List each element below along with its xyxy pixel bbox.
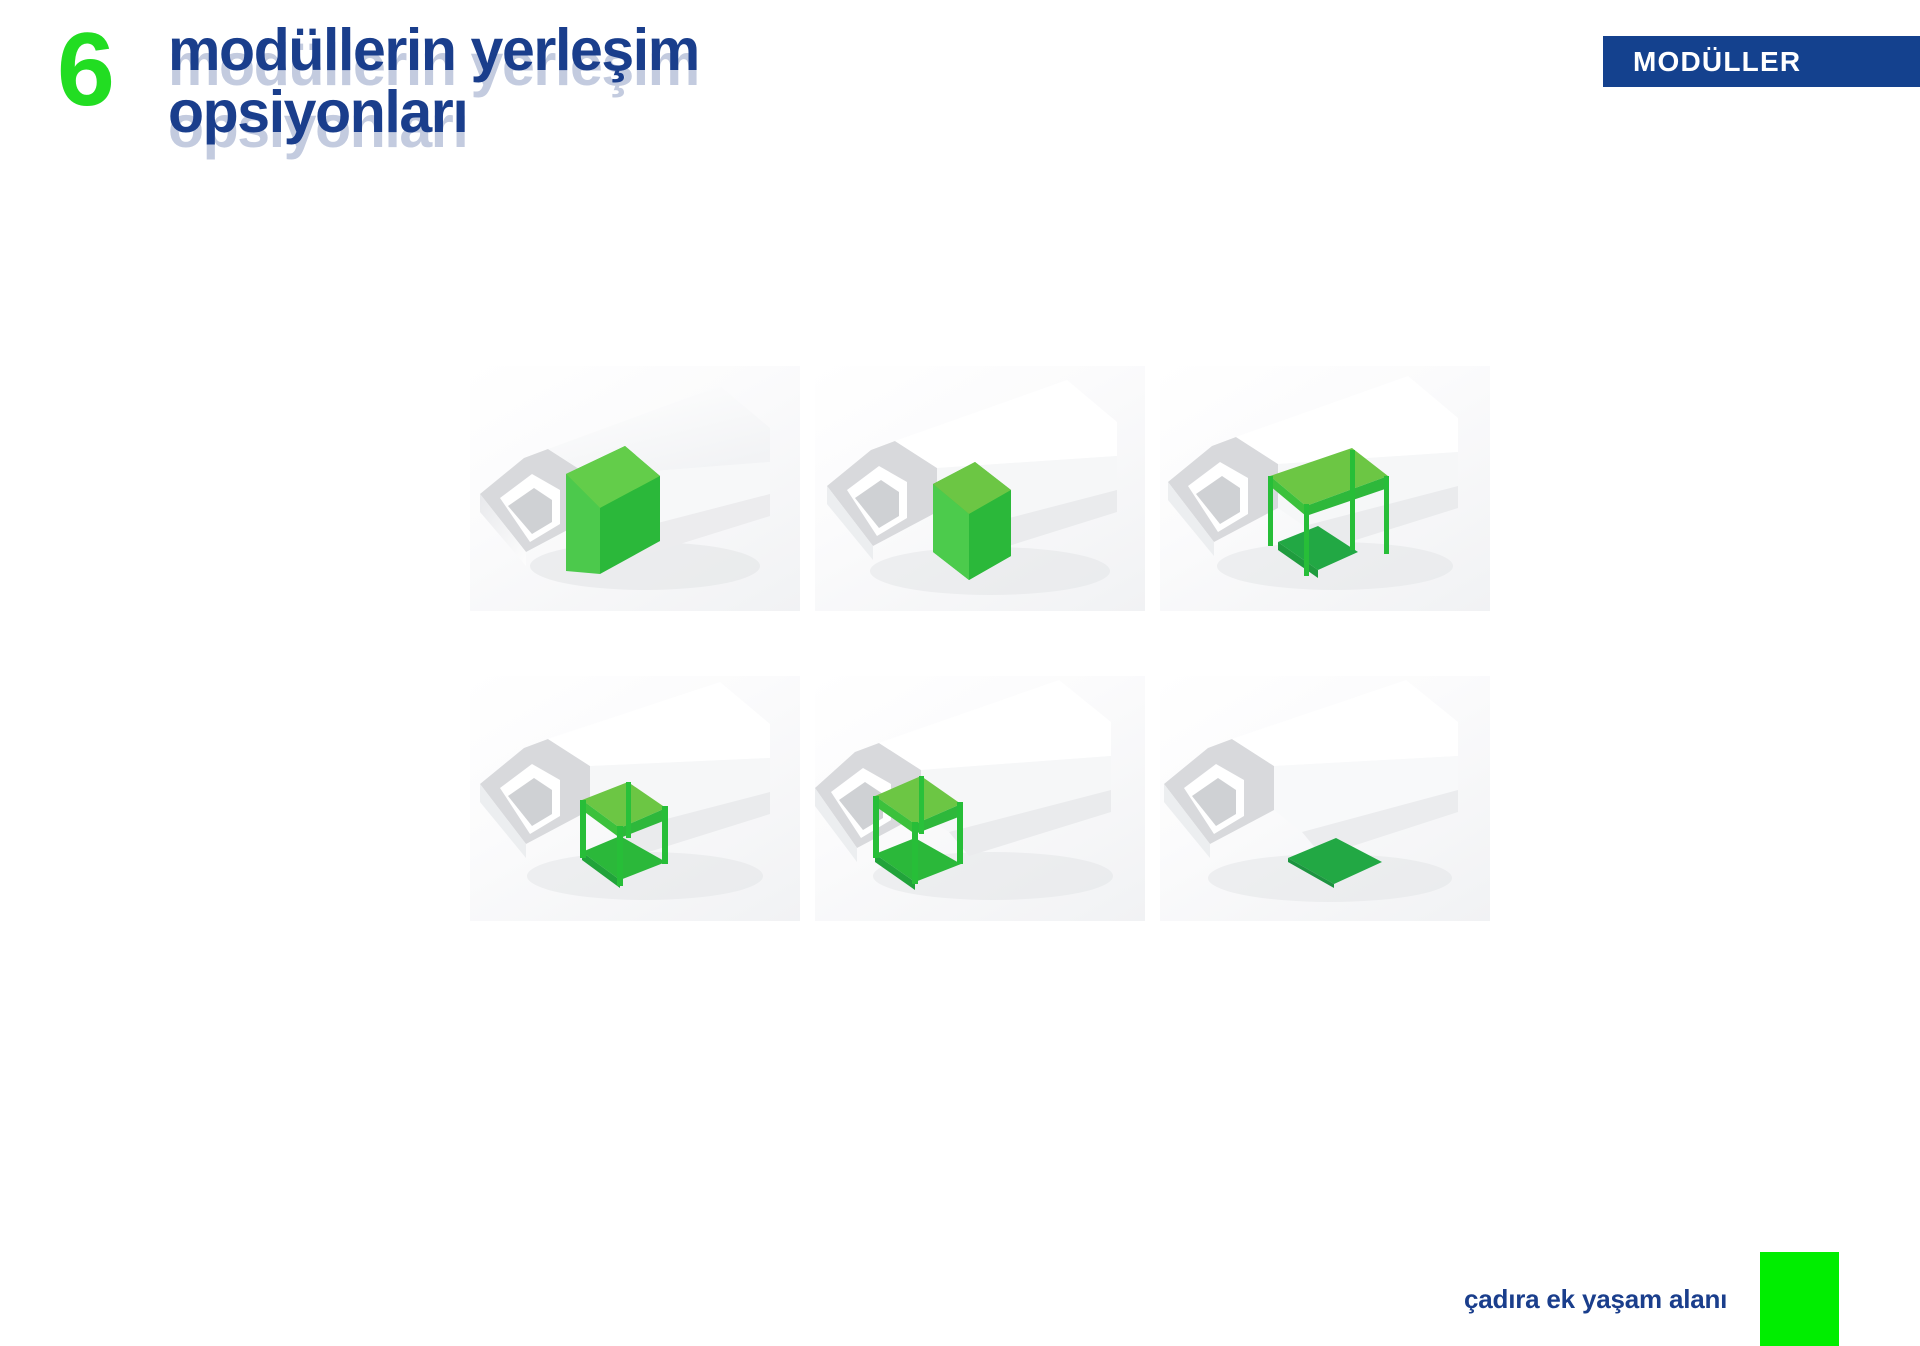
tent-render-small-open-frame-module <box>470 676 800 921</box>
tent-render-full-width-wall-module <box>470 366 800 611</box>
section-badge-label: MODÜLLER <box>1603 46 1801 78</box>
render-panel-4 <box>470 676 800 921</box>
render-panel-6 <box>1160 676 1490 921</box>
section-badge: MODÜLLER <box>1603 36 1920 87</box>
legend-label: çadıra ek yaşam alanı <box>1464 1284 1727 1315</box>
title-line-2: opsiyonları opsiyonları <box>168 82 1068 144</box>
render-panel-5 <box>815 676 1145 921</box>
title-line-1: modüllerin yerleşim modüllerin yerleşim <box>168 20 1068 82</box>
page-title: modüllerin yerleşim modüllerin yerleşim … <box>168 20 1068 144</box>
tent-render-flat-ground-platform <box>1160 676 1490 921</box>
tent-render-tall-open-frame-at-entrance <box>815 676 1145 921</box>
legend-color-swatch <box>1760 1252 1839 1346</box>
slide-number: 6 <box>57 18 113 122</box>
render-panel-1 <box>470 366 800 611</box>
module-options-grid <box>470 366 1490 991</box>
tent-render-wide-open-canopy-frame <box>1160 366 1490 611</box>
legend: çadıra ek yaşam alanı <box>1464 1252 1839 1346</box>
tent-render-narrow-solid-box-module <box>815 366 1145 611</box>
title-line-1-text: modüllerin yerleşim <box>168 17 699 83</box>
render-panel-3 <box>1160 366 1490 611</box>
title-line-2-text: opsiyonları <box>168 79 467 145</box>
render-panel-2 <box>815 366 1145 611</box>
